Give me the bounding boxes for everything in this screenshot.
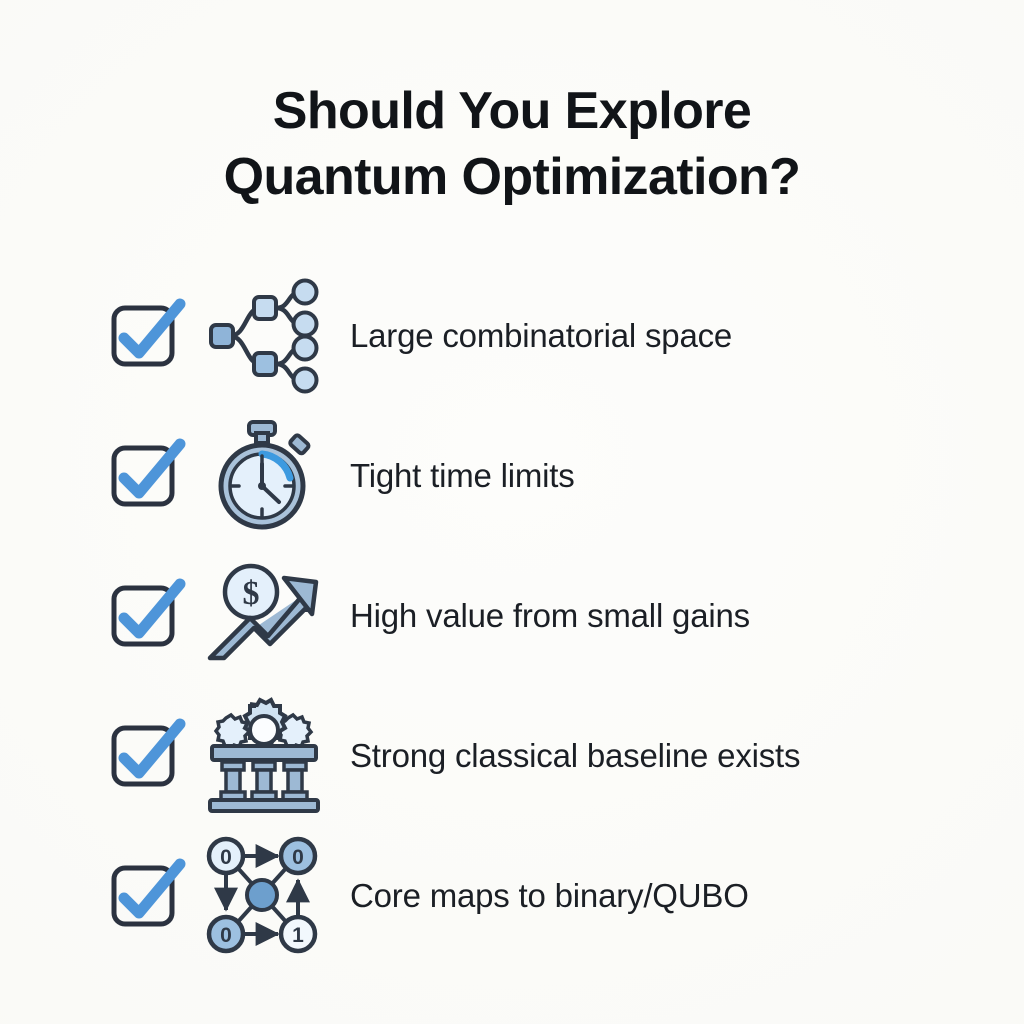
list-item[interactable]: $ High value from small gains	[0, 546, 1024, 686]
dollar-growth-arrow-icon: $	[206, 560, 322, 672]
stopwatch-icon	[206, 420, 322, 532]
qubo-node-top-left-label: 0	[220, 846, 232, 869]
list-item[interactable]: Tight time limits	[0, 406, 1024, 546]
page-title-line-2: Quantum Optimization?	[0, 144, 1024, 210]
dollar-symbol: $	[243, 575, 260, 612]
checked-checkbox-icon[interactable]	[108, 858, 184, 934]
list-item-label: High value from small gains	[350, 597, 750, 635]
list-item-label: Large combinatorial space	[350, 317, 732, 355]
classical-pillars-gears-icon	[206, 700, 322, 812]
qubo-node-top-right-label: 0	[292, 846, 304, 869]
list-item-label: Tight time limits	[350, 457, 575, 495]
binary-qubo-graph-icon: 0 0 0 1	[206, 840, 322, 952]
list-item[interactable]: Large combinatorial space	[0, 266, 1024, 406]
checked-checkbox-icon[interactable]	[108, 438, 184, 514]
qubo-node-bottom-left-label: 0	[220, 924, 232, 947]
qubo-node-bottom-right-label: 1	[292, 924, 304, 947]
page-title: Should You Explore Quantum Optimization?	[0, 78, 1024, 210]
list-item-label: Strong classical baseline exists	[350, 737, 800, 775]
checklist: Large combinatorial space	[0, 266, 1024, 966]
list-item-label: Core maps to binary/QUBO	[350, 877, 749, 915]
checked-checkbox-icon[interactable]	[108, 578, 184, 654]
list-item[interactable]: Strong classical baseline exists	[0, 686, 1024, 826]
branching-tree-icon	[206, 280, 322, 392]
checked-checkbox-icon[interactable]	[108, 298, 184, 374]
checked-checkbox-icon[interactable]	[108, 718, 184, 794]
list-item[interactable]: 0 0 0 1 Core maps to binary/QUBO	[0, 826, 1024, 966]
page-title-line-1: Should You Explore	[0, 78, 1024, 144]
